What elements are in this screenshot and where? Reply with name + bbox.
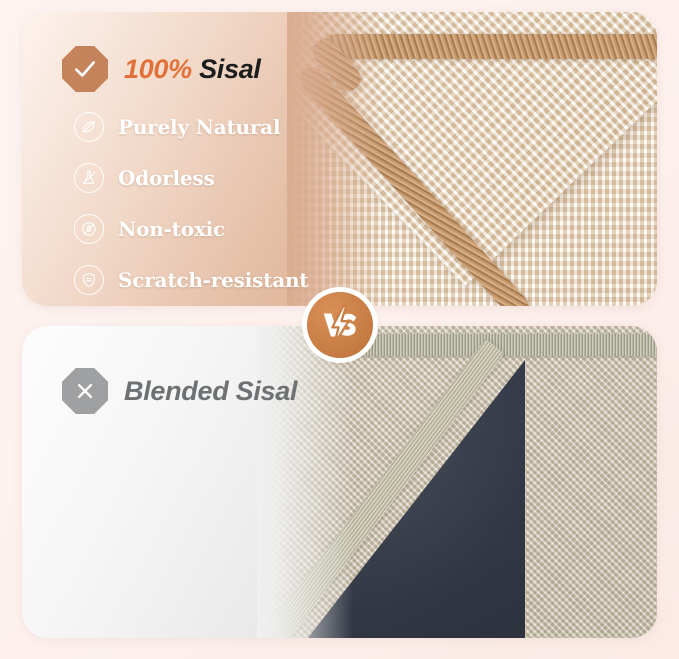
product-photo-natural-sisal: [287, 12, 657, 306]
list-item-label: Purely Natural: [118, 115, 280, 139]
no-toxic-icon: [74, 214, 104, 244]
list-item: Odorless: [74, 163, 308, 193]
list-item: Non-toxic: [74, 214, 308, 244]
page-title-good: 100% Sisal: [124, 54, 261, 85]
list-item: Scratch-resistant: [74, 265, 308, 295]
no-flask-icon: [74, 163, 104, 193]
product-photo-blended-sisal: [257, 326, 657, 638]
panel-header-good: 100% Sisal: [62, 46, 261, 92]
feature-list-good: Purely Natural Odorless: [74, 112, 308, 295]
vs-lightning-icon: [317, 302, 363, 348]
cross-icon: [62, 368, 108, 414]
list-item-label: Scratch-resistant: [118, 268, 308, 292]
panel-100-percent-sisal: 100% Sisal Purely Natural: [22, 12, 657, 306]
panel-blended-sisal: Blended Sisal Chemical Fiber: [22, 326, 657, 638]
title-percent: 100%: [124, 54, 192, 84]
list-item: Purely Natural: [74, 112, 308, 142]
shield-icon: [74, 265, 104, 295]
list-item-label: Odorless: [118, 166, 215, 190]
check-icon: [62, 46, 108, 92]
leaf-icon: [74, 112, 104, 142]
versus-badge: [307, 292, 373, 358]
list-item-label: Non-toxic: [118, 217, 225, 241]
comparison-infographic: 100% Sisal Purely Natural: [0, 0, 679, 659]
rope-binding-top: [323, 34, 657, 59]
page-title-bad: Blended Sisal: [124, 376, 297, 407]
title-material: Sisal: [199, 54, 261, 84]
panel-header-bad: Blended Sisal: [62, 368, 297, 414]
